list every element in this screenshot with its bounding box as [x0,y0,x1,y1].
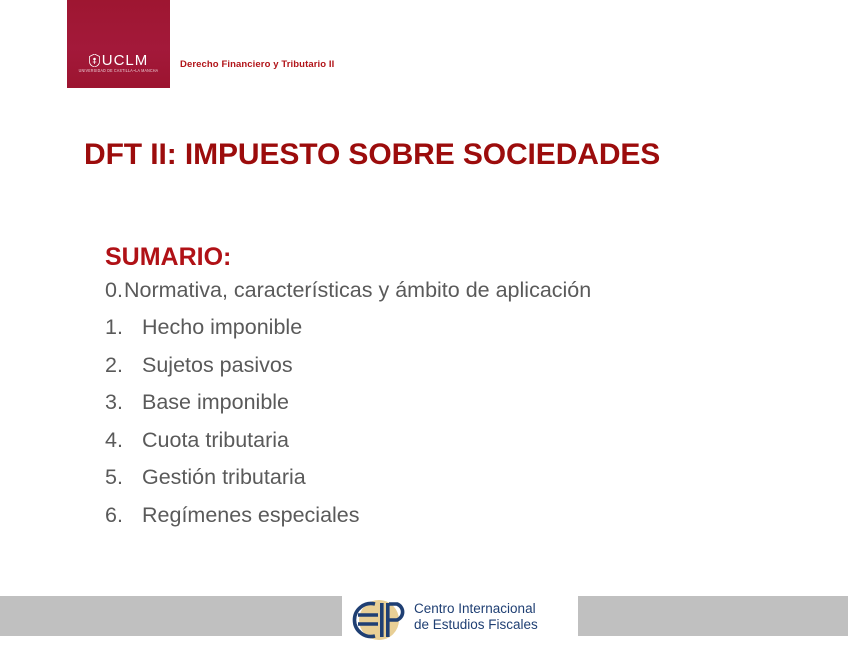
list-item-number: 6. [105,505,127,527]
cief-logo-box: Centro Internacional de Estudios Fiscale… [342,596,578,636]
list-item-label: Gestión tributaria [142,467,306,489]
list-item-label: Normativa, características y ámbito de a… [124,280,591,302]
slide-header: UCLM UNIVERSIDAD DE CASTILLA~LA MANCHA D… [0,0,848,100]
list-item: 6. Regímenes especiales [105,505,805,527]
uclm-logo-box: UCLM UNIVERSIDAD DE CASTILLA~LA MANCHA [67,0,170,88]
list-item-number: 3. [105,392,127,414]
subject-label: Derecho Financiero y Tributario II [180,59,334,70]
content-block: SUMARIO: 0. Normativa, características y… [105,244,805,542]
list-item: 1. Hecho imponible [105,317,805,339]
cief-logo-text: Centro Internacional de Estudios Fiscale… [414,601,538,632]
list-item-number: 1. [105,317,127,339]
uclm-shield-icon [89,54,100,67]
table-of-contents: 0. Normativa, características y ámbito d… [105,280,805,527]
uclm-logo-mark: UCLM UNIVERSIDAD DE CASTILLA~LA MANCHA [67,52,170,74]
list-item-label: Base imponible [142,392,289,414]
list-item-number: 2. [105,355,127,377]
cief-line-2: de Estudios Fiscales [414,617,538,633]
list-item: 2. Sujetos pasivos [105,355,805,377]
slide-footer: Centro Internacional de Estudios Fiscale… [0,596,848,636]
sumario-heading: SUMARIO: [105,244,805,272]
uclm-institution-line: UNIVERSIDAD DE CASTILLA~LA MANCHA [67,70,170,74]
list-item: 4. Cuota tributaria [105,430,805,452]
list-item-label: Hecho imponible [142,317,302,339]
cief-logo-inner: Centro Internacional de Estudios Fiscale… [348,598,578,636]
list-item-label: Cuota tributaria [142,430,289,452]
slide: UCLM UNIVERSIDAD DE CASTILLA~LA MANCHA D… [0,0,848,636]
uclm-wordmark: UCLM [102,53,149,68]
list-item-label: Sujetos pasivos [142,355,293,377]
list-item: 3. Base imponible [105,392,805,414]
page-title: DFT II: IMPUESTO SOBRE SOCIEDADES [84,138,660,172]
list-item-number: 5. [105,467,127,489]
cief-line-1: Centro Internacional [414,601,538,617]
cief-euro-circle-icon [348,598,410,642]
list-item: 5. Gestión tributaria [105,467,805,489]
list-item-label: Regímenes especiales [142,505,360,527]
list-item-number: 4. [105,430,127,452]
list-item-number: 0. [105,280,124,302]
list-item: 0. Normativa, características y ámbito d… [105,280,805,302]
